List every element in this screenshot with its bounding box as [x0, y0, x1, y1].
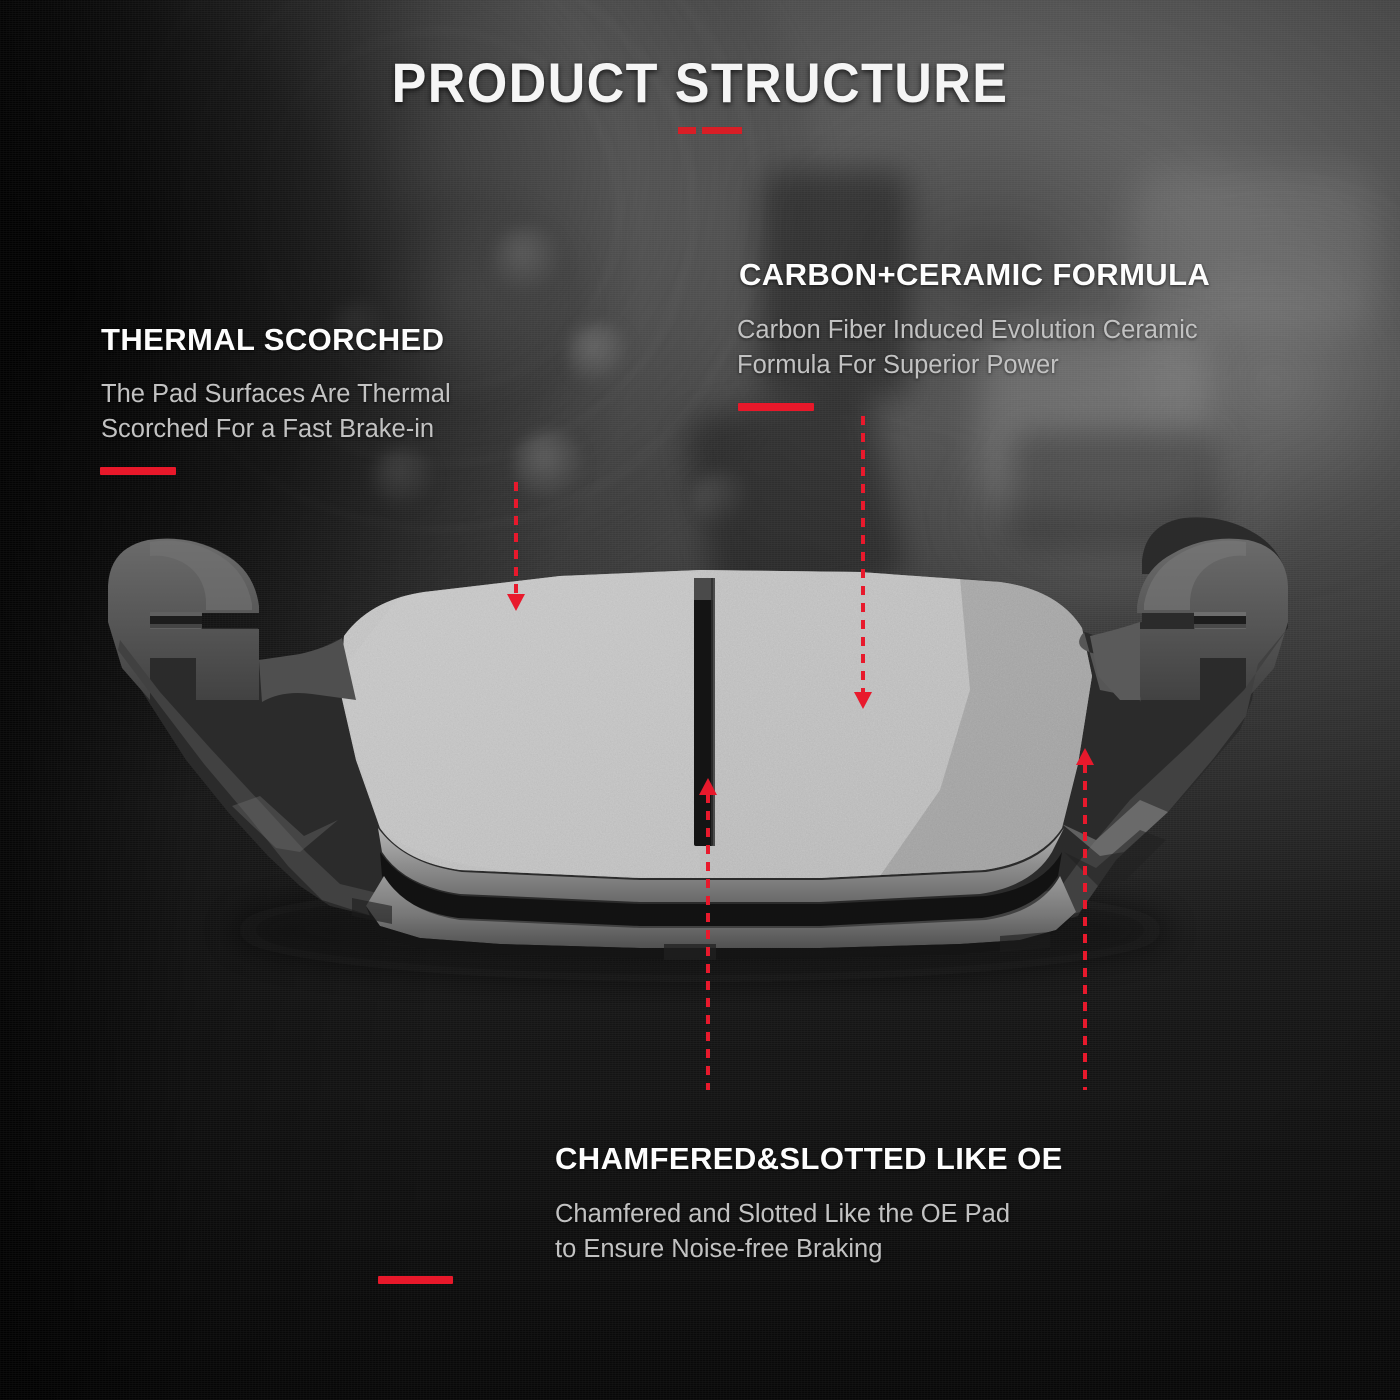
tab-left-notch-edge: [150, 612, 202, 616]
feature-body-line: The Pad Surfaces Are Thermal: [101, 377, 451, 412]
feature-rule-carbon-ceramic: [738, 403, 814, 411]
slot-inner-edge: [711, 578, 715, 846]
title-accent-rule: [678, 127, 742, 134]
feature-heading-thermal-scorched: THERMAL SCORCHED: [101, 322, 444, 358]
page-title: PRODUCT STRUCTURE: [49, 50, 1351, 115]
feature-body-line: to Ensure Noise-free Braking: [555, 1232, 1010, 1267]
arrowhead-up-icon: [699, 778, 717, 795]
arrowhead-up-icon: [1076, 748, 1094, 765]
tab-right-notch-base: [1194, 624, 1246, 629]
tab-right-notch-edge: [1194, 612, 1246, 616]
chamfer-edge-pointer: [1083, 748, 1087, 1090]
pointer-stem: [861, 416, 865, 698]
pointer-stem: [706, 794, 710, 1090]
arrowhead-down-icon: [854, 692, 872, 709]
feature-rule-thermal-scorched: [100, 467, 176, 475]
feature-rule-chamfered-slotted: [378, 1276, 453, 1284]
pointer-stem: [1083, 764, 1087, 1090]
feature-body-line: Formula For Superior Power: [737, 348, 1198, 383]
feature-body-chamfered-slotted: Chamfered and Slotted Like the OE Pad to…: [555, 1197, 1010, 1266]
feature-body-thermal-scorched: The Pad Surfaces Are Thermal Scorched Fo…: [101, 377, 451, 446]
tab-left-join: [259, 638, 356, 702]
pointer-stem: [514, 482, 518, 600]
feature-heading-carbon-ceramic: CARBON+CERAMIC FORMULA: [739, 257, 1210, 293]
ceramic-brake-pad: [0, 0, 1400, 1400]
product-structure-infographic: PRODUCT STRUCTURE THERMAL SCORCHED The P…: [0, 0, 1400, 1400]
brake-pad-svg: [0, 0, 1400, 1400]
friction-material-surface: [340, 570, 1092, 878]
feature-heading-chamfered-slotted: CHAMFERED&SLOTTED LIKE OE: [555, 1141, 1063, 1177]
feature-body-line: Chamfered and Slotted Like the OE Pad: [555, 1197, 1010, 1232]
title-accent-dash-long: [702, 127, 742, 134]
chamfered-slot-pointer: [706, 778, 710, 1090]
slot-top-shadow: [694, 578, 713, 600]
thermal-scorched-pointer: [514, 482, 518, 630]
center-slot: [694, 578, 713, 846]
feature-body-carbon-ceramic: Carbon Fiber Induced Evolution Ceramic F…: [737, 313, 1198, 382]
tab-left-notch-base: [150, 624, 202, 629]
feature-body-line: Carbon Fiber Induced Evolution Ceramic: [737, 313, 1198, 348]
arrowhead-down-icon: [507, 594, 525, 611]
title-accent-dash-short: [678, 127, 696, 134]
feature-body-line: Scorched For a Fast Brake-in: [101, 412, 451, 447]
carbon-ceramic-pointer: [861, 416, 865, 728]
